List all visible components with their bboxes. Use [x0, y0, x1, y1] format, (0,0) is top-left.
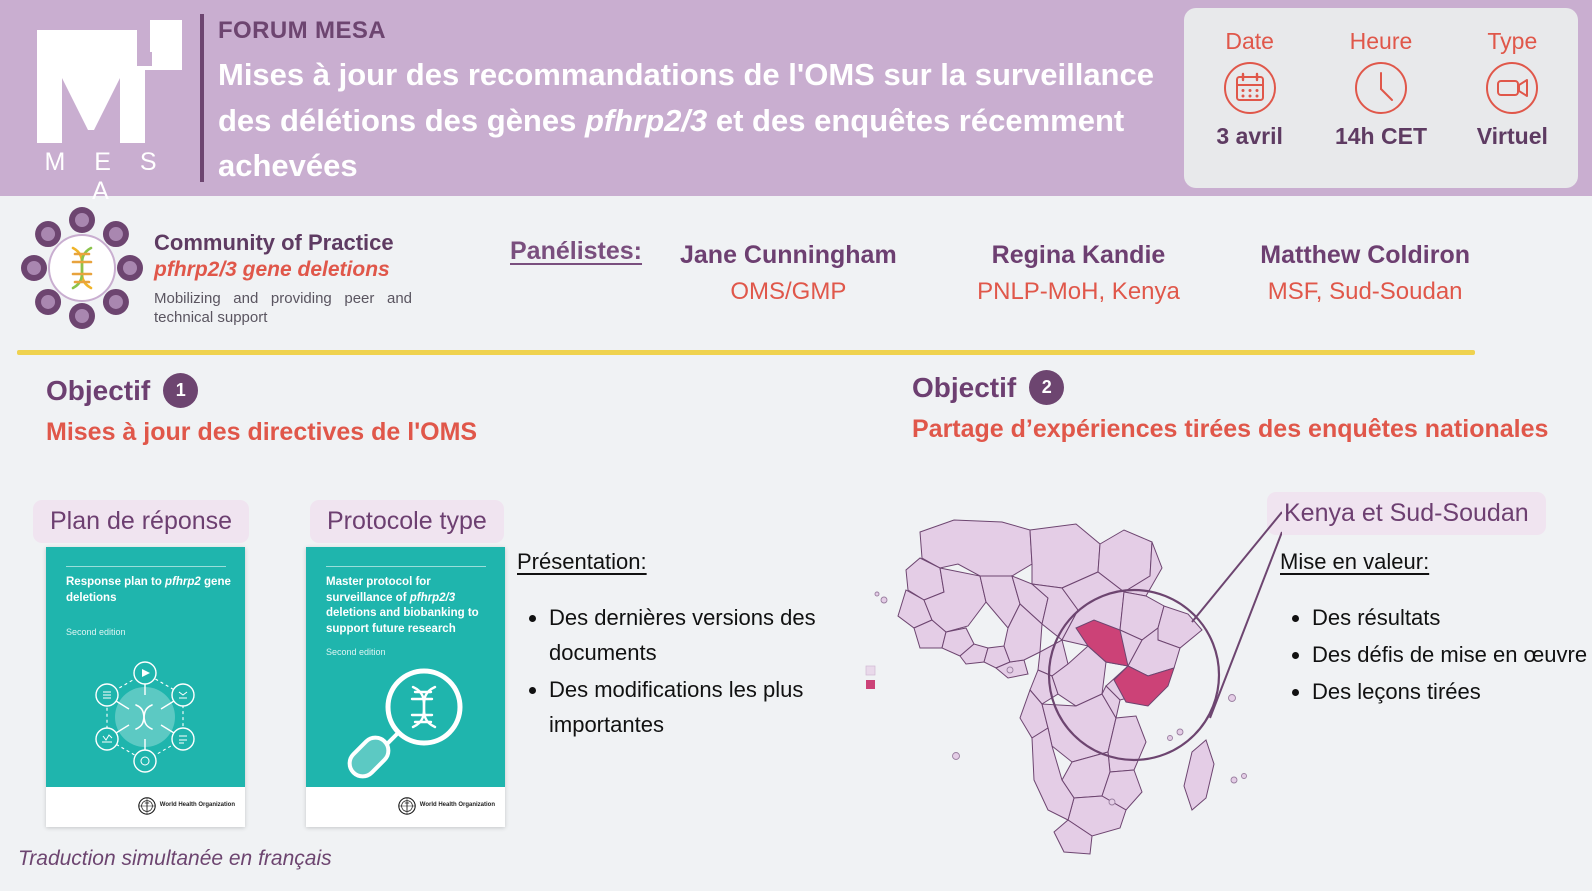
community-of-practice-text: Community of Practice pfhrp2/3 gene dele…: [154, 204, 412, 328]
objective-2-heading: Objectif 2: [912, 370, 1552, 405]
objective-2-subtitle: Partage d’expériences tirées des enquête…: [912, 412, 1552, 448]
footer-note: Traduction simultanée en français: [18, 847, 332, 871]
panelist-item: Regina Kandie PNLP-MoH, Kenya: [977, 240, 1180, 310]
cop-title: Community of Practice: [154, 230, 412, 256]
objective-1-block: Objectif 1 Mises à jour des directives d…: [46, 373, 876, 451]
cover-footer: World Health Organization: [306, 787, 505, 827]
info-label-type: Type: [1487, 28, 1537, 55]
highlights-heading: Mise en valeur:: [1280, 549, 1590, 575]
mesa-wordmark: M E S A: [30, 148, 182, 206]
forum-kicker: FORUM MESA: [218, 16, 1168, 46]
panelist-name: Jane Cunningham: [680, 240, 897, 271]
info-value-date: 3 avril: [1216, 123, 1283, 150]
mesa-logo: M E S A: [22, 8, 192, 188]
map-legend: [866, 666, 875, 689]
cop-subtitle: pfhrp2/3 gene deletions: [154, 256, 412, 283]
panelists-label: Panélistes:: [510, 237, 642, 266]
cover-title: Response plan to pfhrp2 gene deletions: [66, 575, 231, 606]
info-label-date: Date: [1225, 28, 1274, 55]
highlights-text-block: Mise en valeur: Des résultats Des défis …: [1280, 549, 1590, 712]
list-item: Des modifications les plus importantes: [549, 673, 837, 743]
page-title: Mises à jour des recommandations de l'OM…: [218, 52, 1168, 189]
map-callout-lines: [1192, 512, 1282, 718]
cover-edition: Second edition: [66, 627, 226, 638]
cover-hairline: [326, 566, 486, 567]
cover-hairline: [66, 566, 226, 567]
event-info-box: Date 3 avril Heure 14h CET Type: [1184, 8, 1578, 188]
video-camera-icon: [1485, 61, 1539, 115]
presentation-heading: Présentation:: [517, 549, 837, 575]
objective-1-heading: Objectif 1: [46, 373, 876, 408]
document-cover-response-plan[interactable]: Response plan to pfhrp2 gene deletions S…: [46, 547, 245, 827]
objective-1-word: Objectif: [46, 375, 150, 407]
panelist-item: Matthew Coldiron MSF, Sud-Soudan: [1260, 240, 1470, 310]
info-value-time: 14h CET: [1335, 123, 1427, 150]
info-label-time: Heure: [1350, 28, 1413, 55]
magnifier-dna-icon: [306, 665, 505, 781]
panelist-item: Jane Cunningham OMS/GMP: [680, 240, 897, 310]
community-of-practice-block: Community of Practice pfhrp2/3 gene dele…: [18, 204, 438, 334]
presentation-text-block: Présentation: Des dernières versions des…: [517, 549, 837, 744]
africa-map: [862, 480, 1282, 870]
cover-edition: Second edition: [326, 647, 486, 658]
highlights-bullet-list: Des résultats Des défis de mise en œuvre…: [1280, 601, 1590, 709]
who-logo: World Health Organization: [138, 797, 235, 815]
who-emblem-icon: [398, 797, 416, 815]
info-value-type: Virtuel: [1477, 123, 1548, 150]
list-item: Des résultats: [1312, 601, 1590, 636]
panelists-list: Jane Cunningham OMS/GMP Regina Kandie PN…: [680, 240, 1470, 310]
mesa-logo-mark: [32, 18, 182, 143]
cover-title-part2: deletions and biobanking to support futu…: [326, 607, 479, 635]
objective-1-badge: 1: [163, 373, 198, 408]
list-item: Des dernières versions des documents: [549, 601, 837, 671]
pill-plan-de-reponse: Plan de réponse: [33, 500, 249, 543]
section-divider: [17, 350, 1475, 355]
panelist-org: OMS/GMP: [680, 274, 897, 310]
document-cover-master-protocol[interactable]: Master protocol for surveillance of pfhr…: [306, 547, 505, 827]
calendar-icon: [1223, 61, 1277, 115]
panelist-name: Matthew Coldiron: [1260, 240, 1470, 271]
cover-title-part1: Response plan to: [66, 576, 165, 588]
clock-icon: [1354, 61, 1408, 115]
objective-2-badge: 2: [1029, 370, 1064, 405]
header-text-group: FORUM MESA Mises à jour des recommandati…: [218, 16, 1168, 189]
pill-protocole-type: Protocole type: [310, 500, 504, 543]
panelist-org: MSF, Sud-Soudan: [1260, 274, 1470, 310]
objective-2-word: Objectif: [912, 372, 1016, 404]
cover-footer: World Health Organization: [46, 787, 245, 827]
objective-1-subtitle: Mises à jour des directives de l'OMS: [46, 415, 876, 451]
who-emblem-icon: [138, 797, 156, 815]
panelist-org: PNLP-MoH, Kenya: [977, 274, 1180, 310]
list-item: Des leçons tirées: [1312, 675, 1590, 710]
community-of-practice-logo: [18, 204, 146, 332]
info-item-date: Date 3 avril: [1184, 8, 1315, 188]
response-cycle-diagram: [46, 651, 245, 781]
objective-2-block: Objectif 2 Partage d’expériences tirées …: [912, 370, 1552, 448]
who-logo-text: World Health Organization: [160, 802, 235, 809]
info-item-type: Type Virtuel: [1447, 8, 1578, 188]
info-item-time: Heure 14h CET: [1315, 8, 1446, 188]
cover-title-italic: pfhrp2: [165, 576, 201, 588]
cover-title-italic: pfhrp2/3: [410, 592, 455, 604]
cover-title: Master protocol for surveillance of pfhr…: [326, 575, 491, 637]
page-title-italic: pfhrp2/3: [585, 103, 707, 138]
who-logo-text: World Health Organization: [420, 802, 495, 809]
header-band: M E S A FORUM MESA Mises à jour des reco…: [0, 0, 1592, 196]
list-item: Des défis de mise en œuvre: [1312, 638, 1590, 673]
presentation-bullet-list: Des dernières versions des documents Des…: [517, 601, 837, 742]
map-callout-label: Kenya et Sud-Soudan: [1267, 492, 1546, 535]
who-logo: World Health Organization: [398, 797, 495, 815]
panelist-name: Regina Kandie: [977, 240, 1180, 271]
header-divider: [200, 14, 204, 182]
cop-tagline: Mobilizing and providing peer and techni…: [154, 289, 412, 329]
